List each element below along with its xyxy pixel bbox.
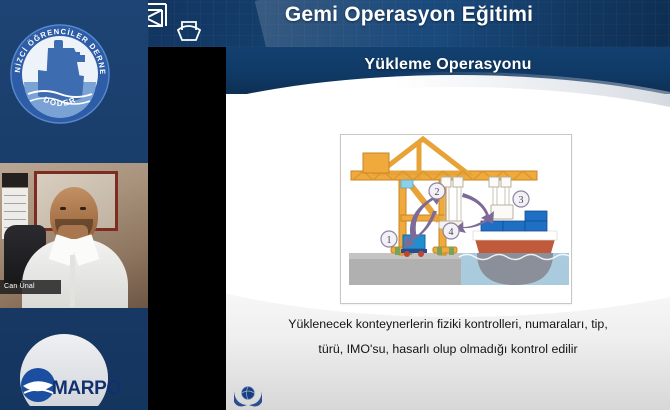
- svg-text:3: 3: [519, 195, 524, 206]
- letterbox-gap: [148, 47, 226, 410]
- globe-leaf-icon: [231, 385, 265, 407]
- machinery-house: [363, 153, 389, 173]
- shirt-placket: [70, 255, 75, 307]
- sidebar-panel: DENİZCİ ÖĞRENCİLER DERNEĞİ DÖDER: [0, 0, 148, 410]
- participant-video-tile[interactable]: Can Ünal: [0, 163, 148, 308]
- slide-canvas[interactable]: Yükleme Operasyonu: [226, 47, 670, 410]
- svg-text:4: 4: [449, 227, 454, 238]
- doder-logo: DENİZCİ ÖĞRENCİLER DERNEĞİ DÖDER: [6, 4, 114, 142]
- slide-caption: Yüklenecek konteynerlerin fiziki kontrol…: [240, 312, 656, 362]
- presentation-header: Gemi Operasyon Eğitimi: [148, 0, 670, 47]
- eye-right: [80, 207, 86, 210]
- participant-name-label: Can Ünal: [0, 280, 61, 294]
- video-conference-screen: DENİZCİ ÖĞRENCİLER DERNEĞİ DÖDER: [0, 0, 670, 410]
- marport-wordmark: MARPORT: [52, 378, 120, 399]
- caption-line-1: Yüklenecek konteynerlerin fiziki kontrol…: [240, 312, 656, 337]
- svg-text:2: 2: [435, 187, 440, 198]
- eye-left: [60, 207, 66, 210]
- caption-line-2: türü, IMO'su, hasarlı olup olmadığı kont…: [240, 337, 656, 362]
- container-loading-diagram: 1 2 3 4: [340, 134, 572, 304]
- svg-text:1: 1: [387, 235, 392, 246]
- page-title: Gemi Operasyon Eğitimi: [148, 3, 670, 27]
- slide-subtitle: Yükleme Operasyonu: [226, 56, 670, 74]
- marport-logo: MARPORT: [8, 330, 120, 406]
